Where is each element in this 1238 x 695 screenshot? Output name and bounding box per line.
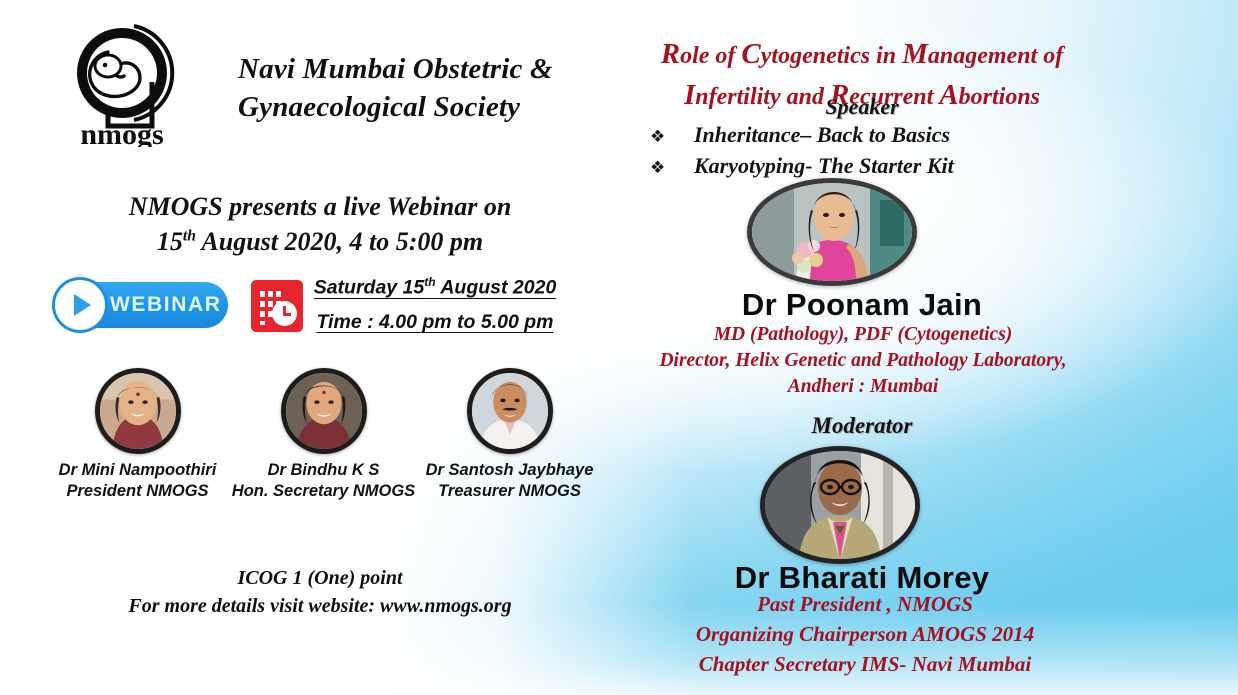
- speaker-credentials: MD (Pathology), PDF (Cytogenetics) Direc…: [580, 322, 1146, 400]
- announcement-date-rest: August 2020, 4 to 5:00 pm: [196, 227, 483, 256]
- moderator-credential-line: Past President , NMOGS: [600, 590, 1130, 620]
- talk-title-line1: Role of Cytogenetics in Management of: [612, 34, 1112, 75]
- officer-photo-bindhu-k-s: [281, 368, 367, 454]
- moderator-credential-line: Chapter Secretary IMS- Navi Mumbai: [600, 650, 1130, 680]
- officer-photo-santosh-jaybhaye: [467, 368, 553, 454]
- officer-card: Dr Bindhu K S Hon. Secretary NMOGS: [231, 368, 416, 503]
- schedule-date: Saturday 15th August 2020: [290, 276, 580, 298]
- officers-row: Dr Mini Nampoothiri President NMOGS: [45, 368, 620, 513]
- website-line: For more details visit website: www.nmog…: [60, 593, 580, 621]
- schedule-date-text: Saturday 15th August 2020: [314, 276, 557, 298]
- topic-list: ❖ Inheritance– Back to Basics ❖ Karyotyp…: [650, 120, 1120, 182]
- announcement-day: 15: [157, 227, 183, 256]
- icog-points: ICOG 1 (One) point: [60, 565, 580, 593]
- footer-block: ICOG 1 (One) point For more details visi…: [60, 565, 580, 620]
- play-triangle-shape: [74, 294, 91, 316]
- speaker-credential-line: Andheri : Mumbai: [580, 374, 1146, 400]
- schedule-time: Time : 4.00 pm to 5.00 pm: [290, 313, 580, 333]
- officer-card: Dr Santosh Jaybhaye Treasurer NMOGS: [417, 368, 602, 503]
- officer-name: Dr Santosh Jaybhaye: [417, 460, 602, 481]
- schedule-time-text: Time : 4.00 pm to 5.00 pm: [317, 313, 554, 333]
- officer-role: President NMOGS: [45, 481, 230, 502]
- society-name: Navi Mumbai Obstetric & Gynaecological S…: [238, 50, 598, 127]
- speaker-credential-line: MD (Pathology), PDF (Cytogenetics): [580, 322, 1146, 348]
- nmogs-logo-icon: nmogs: [48, 22, 196, 147]
- society-name-line2: Gynaecological Society: [238, 88, 598, 126]
- officer-role: Treasurer NMOGS: [417, 481, 602, 502]
- officer-photo-mini-nampoothiri: [95, 368, 181, 454]
- schedule-block: Saturday 15th August 2020 Time : 4.00 pm…: [290, 276, 580, 333]
- topic-label: Karyotyping- The Starter Kit: [694, 151, 954, 180]
- diamond-bullet-icon: ❖: [650, 126, 694, 148]
- topic-label: Inheritance– Back to Basics: [694, 120, 950, 149]
- officer-card: Dr Mini Nampoothiri President NMOGS: [45, 368, 230, 503]
- webinar-badge: WEBINAR: [58, 282, 228, 328]
- moderator-credential-line: Organizing Chairperson AMOGS 2014: [600, 620, 1130, 650]
- webinar-poster: nmogs Navi Mumbai Obstetric & Gynaecolog…: [0, 0, 1238, 695]
- officer-name: Dr Mini Nampoothiri: [45, 460, 230, 481]
- diamond-bullet-icon: ❖: [650, 157, 694, 179]
- announcement-line2: 15th August 2020, 4 to 5:00 pm: [60, 225, 580, 260]
- topic-item: ❖ Karyotyping- The Starter Kit: [650, 151, 1120, 180]
- svg-text:nmogs: nmogs: [80, 118, 163, 147]
- speaker-heading: Speaker: [612, 94, 1112, 120]
- society-name-line1: Navi Mumbai Obstetric &: [238, 50, 598, 88]
- webinar-badge-label: WEBINAR: [110, 293, 222, 317]
- moderator-photo-bharati-morey: [760, 446, 920, 564]
- speaker-name: Dr Poonam Jain: [612, 287, 1112, 323]
- moderator-credentials: Past President , NMOGS Organizing Chairp…: [600, 590, 1130, 679]
- announcement-block: NMOGS presents a live Webinar on 15th Au…: [60, 190, 580, 259]
- society-logo-block: nmogs Navi Mumbai Obstetric & Gynaecolog…: [48, 22, 598, 147]
- play-icon: [52, 277, 108, 333]
- officer-role: Hon. Secretary NMOGS: [231, 481, 416, 502]
- moderator-heading: Moderator: [612, 413, 1112, 439]
- announcement-day-suffix: th: [183, 227, 196, 244]
- officer-name: Dr Bindhu K S: [231, 460, 416, 481]
- announcement-line1: NMOGS presents a live Webinar on: [60, 190, 580, 225]
- speaker-photo-poonam-jain: [747, 178, 917, 286]
- speaker-credential-line: Director, Helix Genetic and Pathology La…: [580, 348, 1146, 374]
- topic-item: ❖ Inheritance– Back to Basics: [650, 120, 1120, 149]
